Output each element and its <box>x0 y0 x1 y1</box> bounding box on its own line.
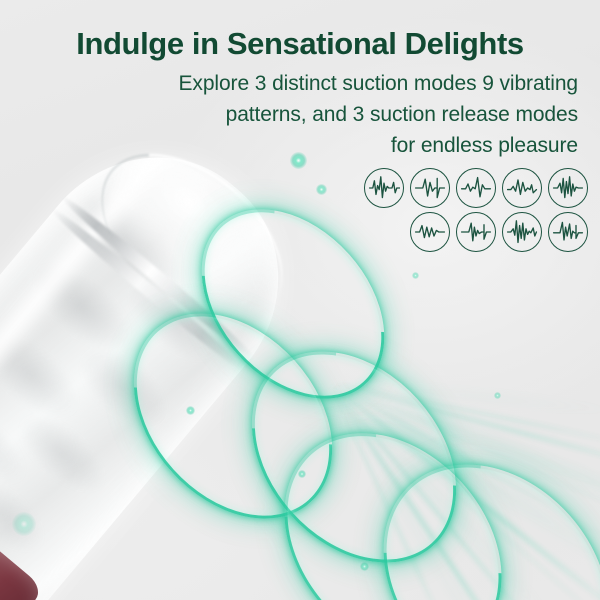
vibration-pattern-icon-4[interactable] <box>502 168 542 208</box>
waveform-path <box>552 172 584 204</box>
waveform-path <box>506 172 538 204</box>
vibration-pattern-icon-7[interactable] <box>456 212 496 252</box>
vibration-pattern-icon-9[interactable] <box>548 212 588 252</box>
promotional-banner: Indulge in Sensational Delights Explore … <box>0 0 600 600</box>
vibration-icon-row-2 <box>358 212 588 252</box>
waveform-path <box>460 172 492 204</box>
waveform-path <box>506 216 538 248</box>
vibration-pattern-icon-6[interactable] <box>410 212 450 252</box>
vibration-pattern-icon-3[interactable] <box>456 168 496 208</box>
glow-particle <box>12 512 36 536</box>
glow-particle <box>360 562 369 571</box>
page-title: Indulge in Sensational Delights <box>0 26 600 62</box>
waveform-path <box>368 172 400 204</box>
subheading-line-3: for endless pleasure <box>0 134 600 158</box>
vibration-icon-row-1 <box>358 168 588 208</box>
glow-particle <box>494 392 501 399</box>
waveform-path <box>414 172 446 204</box>
glow-particle <box>186 406 195 415</box>
vibration-pattern-icon-5[interactable] <box>548 168 588 208</box>
waveform-path <box>460 216 492 248</box>
vibration-pattern-icon-8[interactable] <box>502 212 542 252</box>
subheading-line-1: Explore 3 distinct suction modes 9 vibra… <box>0 72 600 96</box>
glow-particle <box>316 184 327 195</box>
subheading-line-2: patterns, and 3 suction release modes <box>0 103 600 127</box>
vibration-mode-icon-grid <box>358 168 588 256</box>
waveform-path <box>414 216 446 248</box>
vibration-pattern-icon-2[interactable] <box>410 168 450 208</box>
glow-particle <box>298 470 306 478</box>
vibration-pattern-icon-1[interactable] <box>364 168 404 208</box>
glow-particle <box>412 272 419 279</box>
waveform-path <box>552 216 584 248</box>
